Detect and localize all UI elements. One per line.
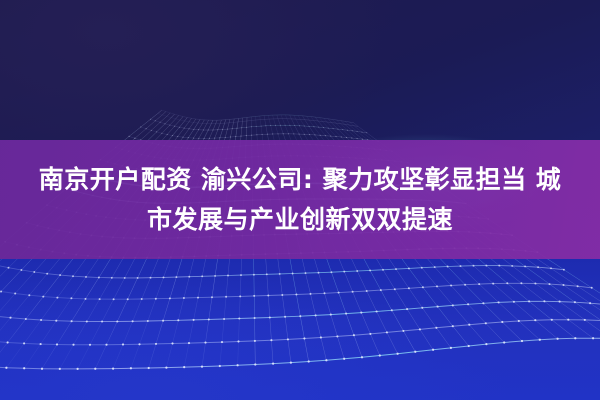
headline-line-1: 南京开户配资 渝兴公司: 聚力攻坚彰显担当 城: [39, 160, 562, 200]
article-banner-image: 南京开户配资 渝兴公司: 聚力攻坚彰显担当 城 市发展与产业创新双双提速: [0, 0, 600, 400]
headline-line-2: 市发展与产业创新双双提速: [147, 200, 453, 240]
headline-text-block: 南京开户配资 渝兴公司: 聚力攻坚彰显担当 城 市发展与产业创新双双提速: [0, 140, 600, 259]
